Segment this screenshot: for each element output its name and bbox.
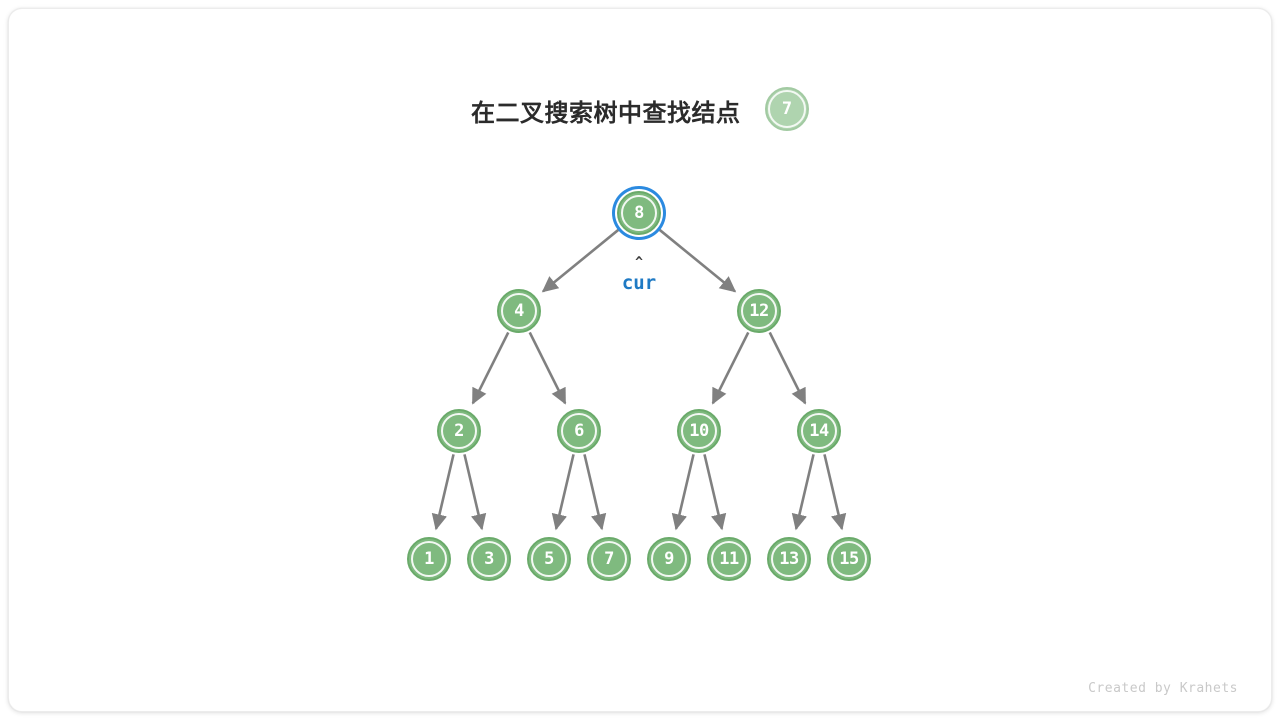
tree-edge [464,454,481,528]
tree-edge [796,454,813,528]
tree-edge [676,454,693,528]
tree-edge [770,332,805,403]
node-value-label: 12 [739,291,779,331]
tree-node-15[interactable]: 15 [827,537,871,581]
node-value-label: 15 [829,539,869,579]
tree-node-3[interactable]: 3 [467,537,511,581]
tree-node-1[interactable]: 1 [407,537,451,581]
tree-node-8[interactable]: 8 [617,191,661,235]
binary-search-tree: 841226101413579111315 ^ cur [0,0,1280,720]
pointer-label: cur [579,272,699,294]
tree-edges [0,0,1280,720]
node-value-label: 14 [799,411,839,451]
tree-node-2[interactable]: 2 [437,409,481,453]
tree-edge [713,332,748,403]
node-value-label: 7 [589,539,629,579]
tree-node-4[interactable]: 4 [497,289,541,333]
node-value-label: 2 [439,411,479,451]
node-value-label: 5 [529,539,569,579]
tree-node-9[interactable]: 9 [647,537,691,581]
node-value-label: 13 [769,539,809,579]
node-value-label: 3 [469,539,509,579]
pointer-caret-icon: ^ [579,257,699,268]
cur-pointer: ^ cur [579,257,699,294]
tree-edge [530,332,565,403]
node-value-label: 6 [559,411,599,451]
tree-edge [824,454,841,528]
tree-node-10[interactable]: 10 [677,409,721,453]
tree-node-11[interactable]: 11 [707,537,751,581]
tree-edge [584,454,601,528]
node-value-label: 11 [709,539,749,579]
tree-edge [473,332,508,403]
tree-node-6[interactable]: 6 [557,409,601,453]
watermark: Created by Krahets [1088,681,1238,696]
node-value-label: 10 [679,411,719,451]
node-value-label: 4 [499,291,539,331]
diagram-canvas: 在二叉搜索树中查找结点 7 841226101413579111315 ^ cu… [0,0,1280,720]
tree-edge [556,454,573,528]
node-value-label: 1 [409,539,449,579]
node-value-label: 9 [649,539,689,579]
tree-node-13[interactable]: 13 [767,537,811,581]
tree-edge [704,454,721,528]
tree-node-7[interactable]: 7 [587,537,631,581]
tree-node-5[interactable]: 5 [527,537,571,581]
tree-node-12[interactable]: 12 [737,289,781,333]
node-value-label: 8 [619,193,659,233]
tree-edge [436,454,453,528]
tree-node-14[interactable]: 14 [797,409,841,453]
